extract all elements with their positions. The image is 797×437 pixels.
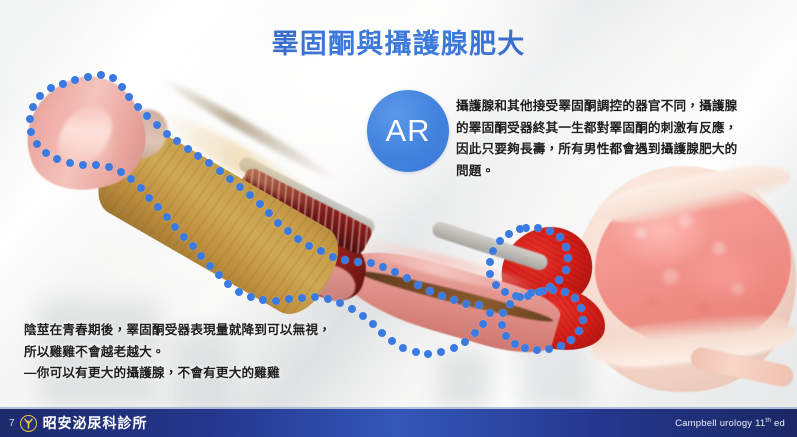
outline-dot xyxy=(539,287,547,295)
outline-dot xyxy=(329,253,337,261)
outline-dot xyxy=(492,281,500,289)
outline-dot xyxy=(486,258,494,266)
outline-dot xyxy=(117,168,125,176)
outline-dot xyxy=(359,312,367,320)
outline-dot xyxy=(274,219,282,227)
outline-dot xyxy=(137,184,145,192)
outline-dot xyxy=(450,344,458,352)
outline-dot xyxy=(516,293,524,301)
outline-dot xyxy=(562,243,570,251)
slide-title: 睪固酮與攝護腺肥大 xyxy=(0,22,797,61)
outline-dot xyxy=(180,233,188,241)
outline-dot xyxy=(336,299,344,307)
annotation-right-text: 攝護腺和其他接受睪固酮調控的器官不同，攝護腺 的睪固酮受器終其一生都對睪固酮的刺… xyxy=(456,96,778,183)
slide-canvas: 睪固酮與攝護腺肥大 AR 攝護腺和其他接受睪固酮調控的器官不同，攝護腺 的睪固酮… xyxy=(0,0,797,437)
outline-dot xyxy=(29,103,37,111)
outline-dot xyxy=(579,316,587,324)
outline-dot xyxy=(305,242,313,250)
outline-dot xyxy=(502,332,510,340)
outline-dot xyxy=(556,233,564,241)
clinic-name: 昭安泌尿科診所 xyxy=(43,413,148,433)
outline-dot xyxy=(511,340,519,348)
outline-dot xyxy=(348,305,356,313)
outline-dot xyxy=(399,344,407,352)
outline-dot xyxy=(414,281,422,289)
outline-dot xyxy=(388,337,396,345)
outline-dot xyxy=(298,294,306,302)
outline-dot xyxy=(471,329,479,337)
outline-dot xyxy=(549,286,557,294)
slide-footer: 7 昭安泌尿科診所 Campbell urology 11th ed xyxy=(0,409,797,437)
outline-dot xyxy=(501,288,509,296)
outline-dot xyxy=(424,350,432,358)
outline-dot xyxy=(215,271,223,279)
outline-dot xyxy=(235,288,243,296)
outline-dot xyxy=(163,130,171,138)
outline-dot xyxy=(118,83,126,91)
outline-dot xyxy=(378,329,386,337)
outline-dot xyxy=(216,167,224,175)
outline-dot xyxy=(153,121,161,129)
outline-dot xyxy=(311,293,319,301)
androgen-receptor-badge: AR xyxy=(367,90,449,172)
outline-dot xyxy=(105,163,113,171)
outline-dot xyxy=(226,175,234,183)
outline-dot xyxy=(189,242,197,250)
outline-dot xyxy=(79,161,87,169)
outline-dot xyxy=(527,289,535,297)
outline-dot xyxy=(516,225,524,233)
outline-dot xyxy=(324,295,332,303)
outline-dot xyxy=(412,348,420,356)
outline-dot xyxy=(163,213,171,221)
outline-dot xyxy=(84,73,92,81)
outline-dot xyxy=(555,276,563,284)
outline-dot xyxy=(557,342,565,350)
outline-dot xyxy=(561,288,569,296)
source-citation: Campbell urology 11th ed xyxy=(675,417,785,429)
outline-dot xyxy=(47,84,55,92)
androgen-receptor-badge-label: AR xyxy=(385,113,430,149)
outline-dot xyxy=(505,230,513,238)
outline-dot xyxy=(462,300,470,308)
outline-dot xyxy=(109,74,117,82)
outline-dot xyxy=(567,336,575,344)
outline-dot xyxy=(256,200,264,208)
outline-dot xyxy=(562,266,570,274)
clinic-emblem-icon xyxy=(20,415,37,432)
outline-dot xyxy=(272,297,280,305)
source-citation-suffix: ed xyxy=(771,418,785,429)
annotation-left-text: 陰莖在青春期後，睪固酮受器表現量就降到可以無視， 所以雞雞不會越老越大。 —你可… xyxy=(24,320,364,385)
outline-dot xyxy=(533,346,541,354)
outline-dot xyxy=(369,320,377,328)
page-number: 7 xyxy=(9,418,15,429)
outline-dot xyxy=(284,227,292,235)
outline-dot xyxy=(426,287,434,295)
outline-dot xyxy=(354,258,362,266)
source-citation-prefix: Campbell urology 11 xyxy=(675,418,765,429)
outline-dot xyxy=(247,293,255,301)
outline-dot xyxy=(92,161,100,169)
outline-dot xyxy=(534,224,542,232)
outline-dot xyxy=(294,235,302,243)
outline-dot xyxy=(66,159,74,167)
outline-dot xyxy=(184,145,192,153)
outline-dot xyxy=(438,292,446,300)
outline-dot xyxy=(437,348,445,356)
outline-dot xyxy=(42,149,50,157)
outline-dot xyxy=(59,80,67,88)
outline-dot xyxy=(545,345,553,353)
outline-dot xyxy=(134,103,142,111)
outline-dot xyxy=(33,140,41,148)
outline-dot xyxy=(206,262,214,270)
outline-dot xyxy=(224,280,232,288)
outline-dot xyxy=(498,321,506,329)
outline-dot xyxy=(461,338,469,346)
outline-dot xyxy=(546,227,554,235)
outline-dot xyxy=(479,320,487,328)
